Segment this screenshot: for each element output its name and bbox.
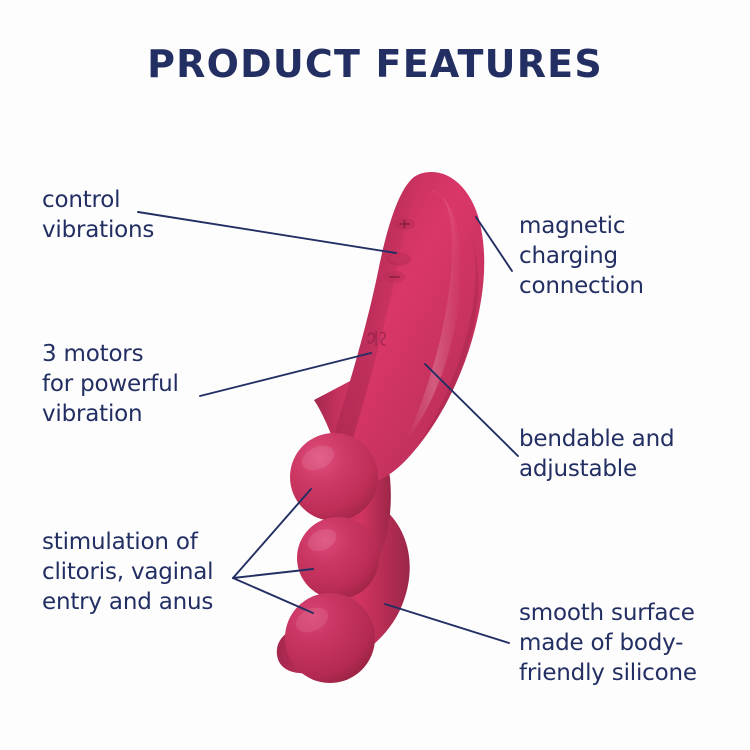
callout-label-stimulation: stimulation of clitoris, vaginal entry a… <box>42 528 257 618</box>
callout-label-control-vibrations: control vibrations <box>42 186 252 246</box>
callout-label-3-motors: 3 motors for powerful vibration <box>42 340 257 430</box>
callout-label-bendable-adjustable: bendable and adjustable <box>519 425 739 485</box>
sphere-middle <box>297 517 379 599</box>
product-features-diagram: PRODUCT FEATURES control vibrations 3 mo… <box>0 0 750 750</box>
increase-button[interactable] <box>393 218 415 230</box>
page-title: PRODUCT FEATURES <box>0 44 750 86</box>
power-button[interactable] <box>387 253 411 266</box>
sphere-top <box>290 433 378 521</box>
decrease-button[interactable] <box>383 271 405 283</box>
stimulation-spheres <box>285 433 379 683</box>
callout-label-smooth-surface: smooth surface made of body- friendly si… <box>519 599 747 689</box>
sphere-bottom <box>285 593 375 683</box>
callout-label-magnetic-charging: magnetic charging connection <box>519 212 739 302</box>
